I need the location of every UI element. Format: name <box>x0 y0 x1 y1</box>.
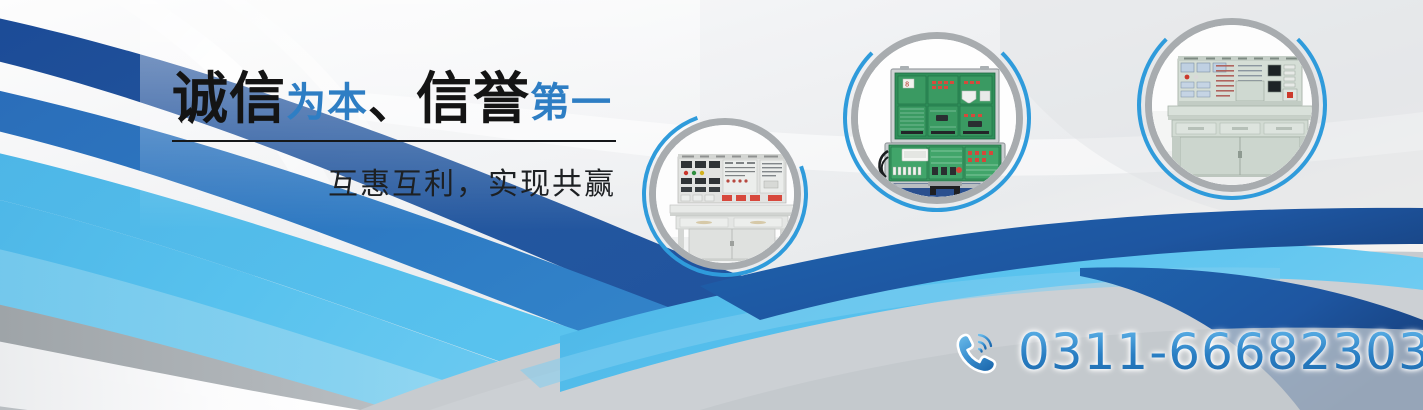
product-photo-machinery-test-bench <box>1152 25 1312 185</box>
headline-divider <box>172 140 616 142</box>
product-photo-workbench-console <box>656 125 794 263</box>
phone-number[interactable]: 0311-66682303 <box>1018 327 1423 377</box>
headline-part-4: 信誉 <box>416 67 530 132</box>
product-circle-3[interactable] <box>1145 18 1319 192</box>
product-photo-portable-training-case: 8 <box>858 39 1016 197</box>
promo-banner: 诚信为本、信誉第一 互惠互利，实现共赢 <box>0 0 1423 410</box>
headline-separator: 、 <box>368 74 416 130</box>
contact-phone-row[interactable]: 0311-66682303 <box>952 326 1423 378</box>
circle-gray-ring <box>649 118 801 270</box>
svg-text:8: 8 <box>905 81 909 89</box>
circle-gray-ring: 8 <box>851 32 1023 204</box>
subtitle: 互惠互利，实现共赢 <box>172 159 616 203</box>
circle-gray-ring <box>1145 18 1319 192</box>
headline-part-2: 为本 <box>286 80 368 126</box>
product-circle-2[interactable]: 8 <box>851 32 1023 204</box>
product-circle-1[interactable] <box>649 118 801 270</box>
headline-part-1: 诚信 <box>172 67 286 132</box>
page-title: 诚信为本、信誉第一 <box>172 72 632 128</box>
headline-block: 诚信为本、信誉第一 互惠互利，实现共赢 <box>172 72 632 203</box>
headline-part-5: 第一 <box>530 80 612 126</box>
phone-ringing-icon <box>952 326 1004 378</box>
